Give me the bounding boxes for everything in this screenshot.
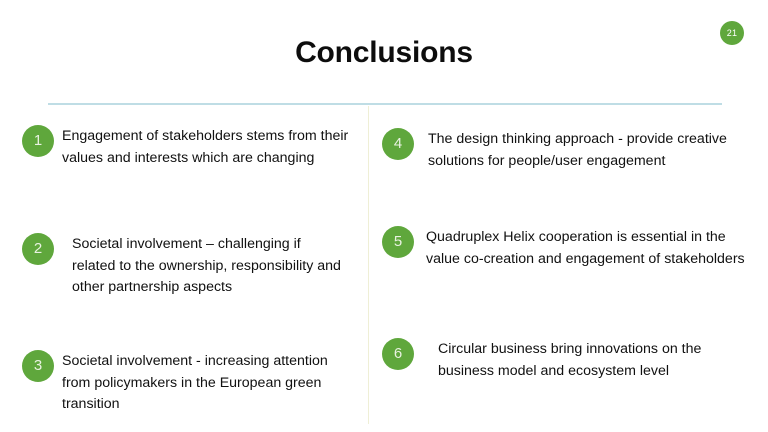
list-item: 6 Circular business bring innovations on… (382, 338, 754, 382)
bullet-number-2: 2 (22, 233, 54, 265)
bullet-number-6: 6 (382, 338, 414, 370)
list-item-text: Engagement of stakeholders stems from th… (62, 125, 354, 169)
list-item: 2 Societal involvement – challenging if … (22, 233, 364, 299)
list-item-text: Circular business bring innovations on t… (438, 338, 738, 382)
list-item-text: Societal involvement – challenging if re… (72, 233, 344, 299)
header-divider-horizontal (48, 103, 722, 105)
slide-canvas: 21 Conclusions 1 Engagement of stakehold… (0, 0, 768, 432)
list-item-text: The design thinking approach - provide c… (428, 128, 754, 172)
bullet-number-5: 5 (382, 226, 414, 258)
list-item-text: Quadruplex Helix cooperation is essentia… (426, 226, 754, 270)
page-title: Conclusions (0, 36, 768, 70)
list-item: 1 Engagement of stakeholders stems from … (22, 125, 364, 169)
bullet-number-1: 1 (22, 125, 54, 157)
bullet-number-3: 3 (22, 350, 54, 382)
list-item-text: Societal involvement - increasing attent… (62, 350, 344, 416)
list-item: 5 Quadruplex Helix cooperation is essent… (382, 226, 754, 270)
column-divider-vertical (368, 106, 369, 424)
list-item: 3 Societal involvement - increasing atte… (22, 350, 364, 416)
bullet-number-4: 4 (382, 128, 414, 160)
list-item: 4 The design thinking approach - provide… (382, 128, 754, 172)
